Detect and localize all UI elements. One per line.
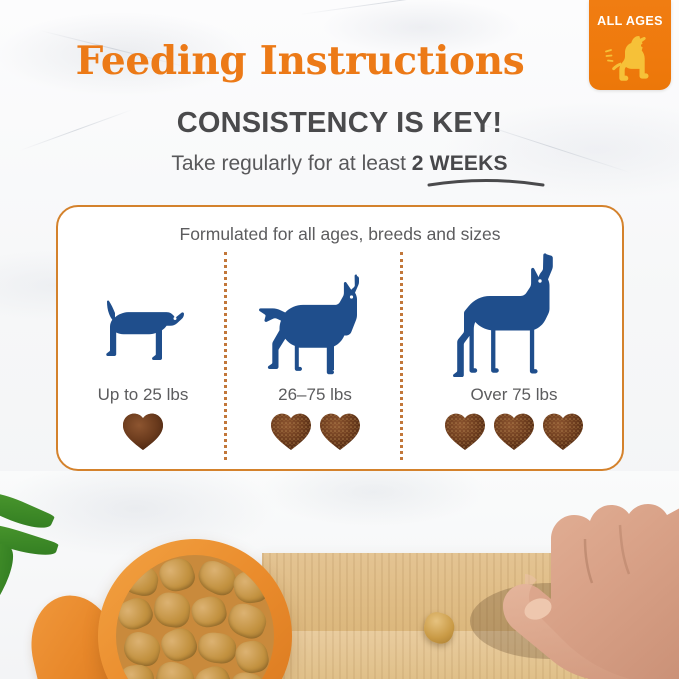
subtitle: CONSISTENCY IS KEY! [0,107,679,140]
medium-dog-icon [253,273,377,377]
card-caption: Formulated for all ages, breeds and size… [58,224,622,245]
tagline-emphasis: 2 WEEKS [412,152,508,175]
treat-count-medium [230,410,400,452]
product-photo [0,471,679,679]
treat-count-large [406,410,622,452]
heart-treat-icon [318,410,362,452]
hand-holding-kibble [430,481,679,679]
page-title: Feeding Instructions [0,38,600,84]
size-label-large: Over 75 lbs [406,385,622,405]
all-ages-badge-label: ALL AGES [589,14,671,28]
heart-treat-icon [492,410,536,452]
large-dog-icon [450,253,578,377]
feeding-chart-card: Formulated for all ages, breeds and size… [56,205,624,471]
sitting-dog-icon [601,32,659,84]
tagline-prefix: Take regularly for at least [171,152,411,175]
heart-treat-icon [443,410,487,452]
all-ages-badge: ALL AGES [589,0,671,90]
column-divider-2 [400,252,403,460]
small-dog-icon [91,299,195,377]
feeding-instructions-infographic: ALL AGES Feeding Instructions CONSISTENC… [0,0,679,679]
heart-treat-icon [121,410,165,452]
size-label-small: Up to 25 lbs [62,385,224,405]
heart-treat-icon [541,410,585,452]
column-divider-1 [224,252,227,460]
tagline-underline-arc [427,176,545,188]
treat-count-small [62,410,224,452]
size-label-medium: 26–75 lbs [230,385,400,405]
heart-treat-icon [269,410,313,452]
bowl-interior [116,555,274,679]
tagline: Take regularly for at least 2 WEEKS [0,152,679,176]
